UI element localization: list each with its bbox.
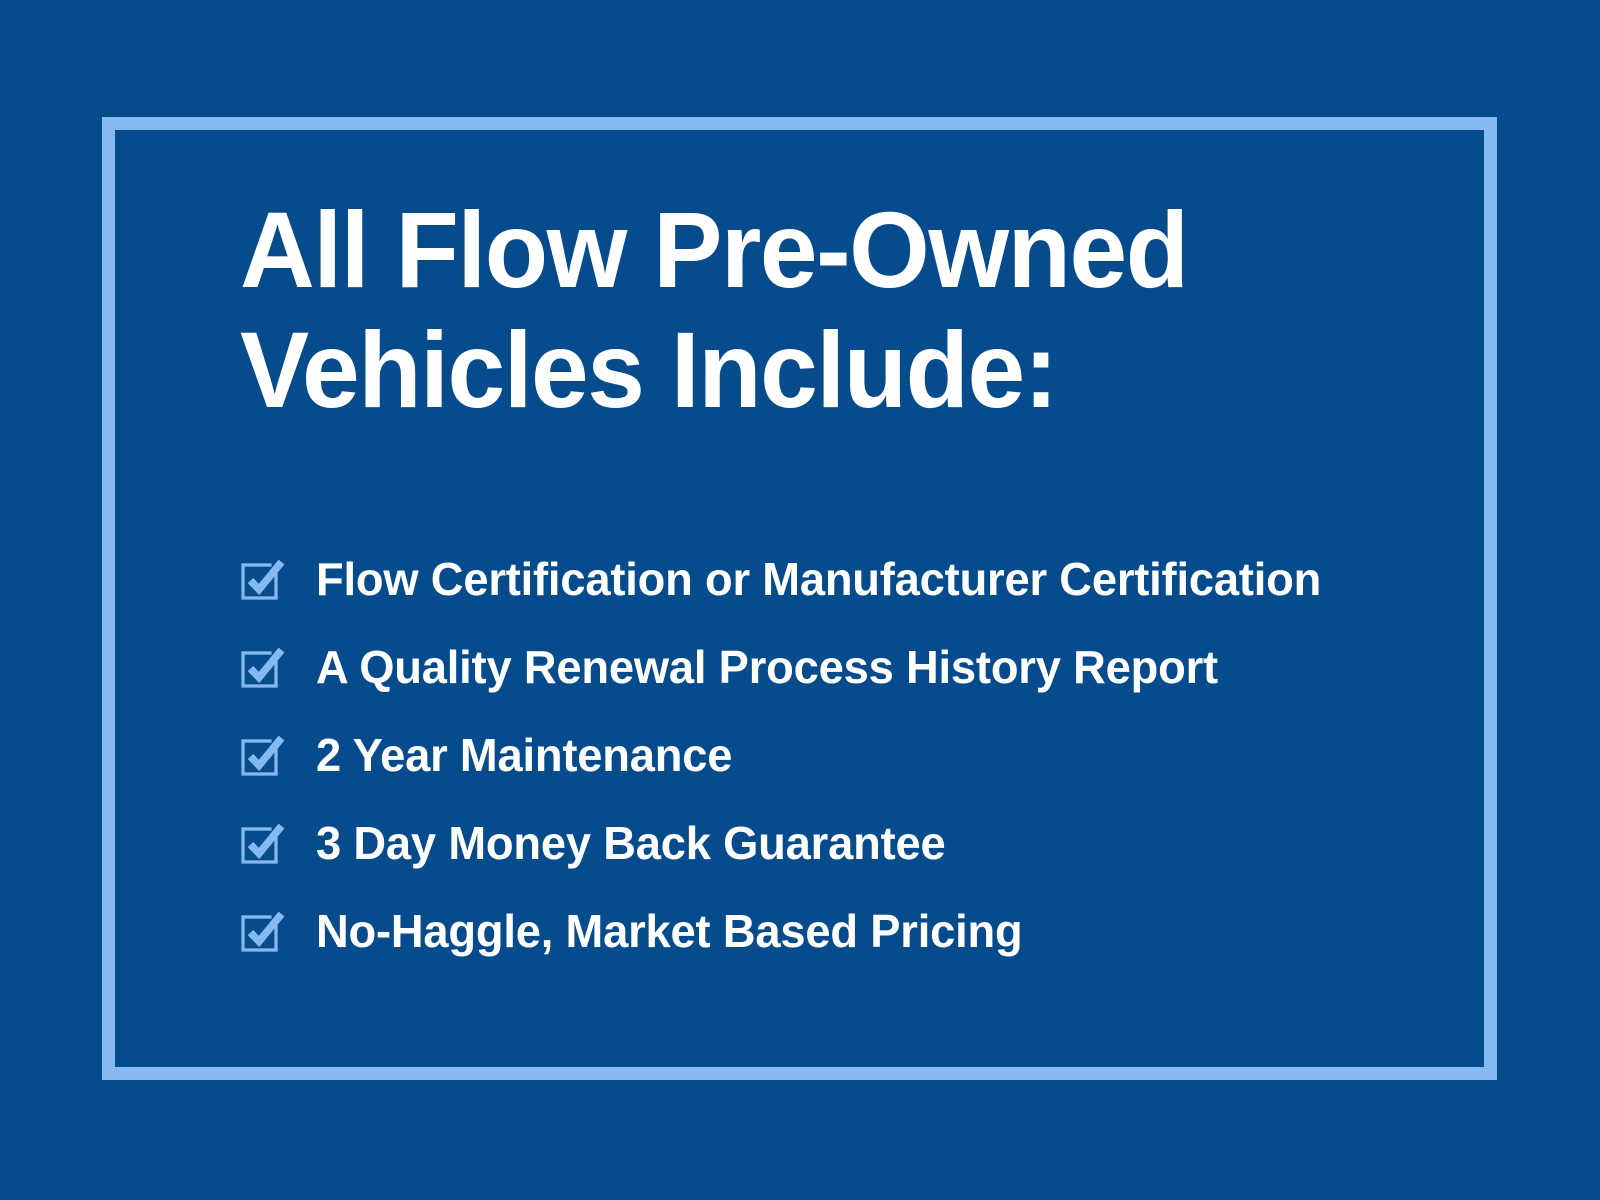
poster-content: All Flow Pre-Owned Vehicles Include: Flo… [240, 190, 1470, 430]
list-item-label: Flow Certification or Manufacturer Certi… [316, 553, 1321, 605]
page-title-line-1: All Flow Pre-Owned [240, 190, 1421, 310]
list-item-label: 2 Year Maintenance [316, 729, 732, 781]
promotional-poster: All Flow Pre-Owned Vehicles Include: Flo… [0, 0, 1600, 1200]
list-item: Flow Certification or Manufacturer Certi… [240, 535, 1470, 623]
list-item: 3 Day Money Back Guarantee [240, 799, 1470, 887]
list-item-label: 3 Day Money Back Guarantee [316, 817, 945, 869]
checkbox-checked-icon [240, 645, 284, 689]
checkbox-checked-icon [240, 557, 284, 601]
checkbox-checked-icon [240, 733, 284, 777]
list-item-label: No-Haggle, Market Based Pricing [316, 905, 1022, 957]
list-item-label: A Quality Renewal Process History Report [316, 641, 1218, 693]
page-title-line-2: Vehicles Include: [240, 310, 1421, 430]
checkbox-checked-icon [240, 909, 284, 953]
list-item: A Quality Renewal Process History Report [240, 623, 1470, 711]
checkbox-checked-icon [240, 821, 284, 865]
list-item: 2 Year Maintenance [240, 711, 1470, 799]
list-item: No-Haggle, Market Based Pricing [240, 887, 1470, 975]
benefits-checklist: Flow Certification or Manufacturer Certi… [240, 535, 1470, 975]
page-title: All Flow Pre-Owned Vehicles Include: [240, 190, 1421, 430]
